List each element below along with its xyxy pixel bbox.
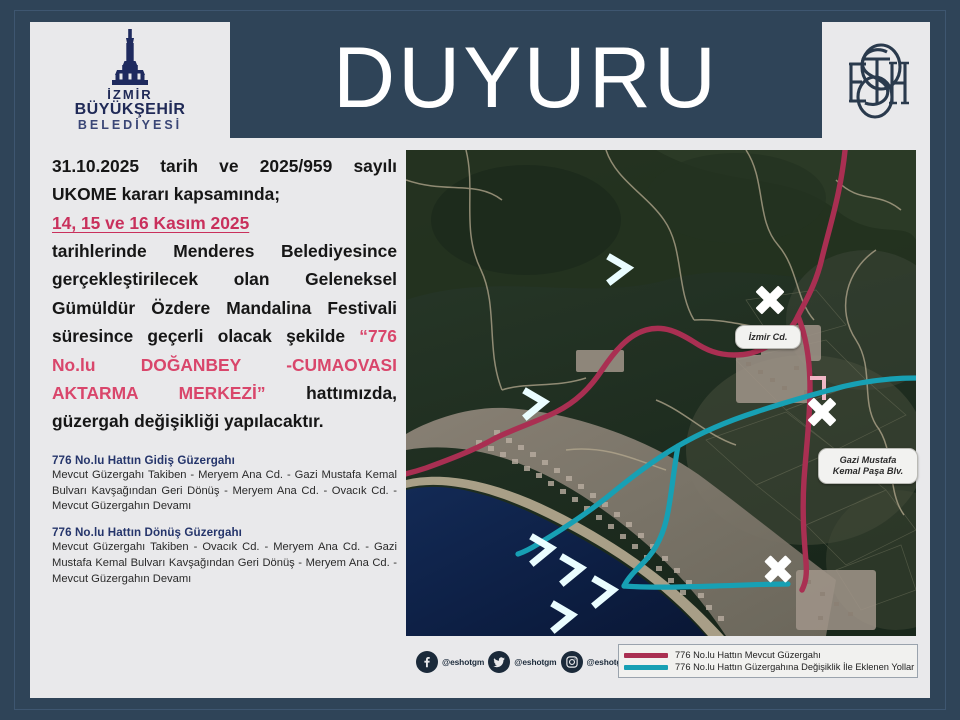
- announcement-intro: 31.10.2025 tarih ve 2025/959 sayılı UKOM…: [52, 156, 397, 204]
- social-twitter-handle: @eshotgm: [514, 657, 556, 667]
- route-detail-outbound: Mevcut Güzergahı Takiben - Meryem Ana Cd…: [52, 468, 397, 516]
- announcement-text-column: 31.10.2025 tarih ve 2025/959 sayılı UKOM…: [52, 152, 397, 632]
- route-detail-return: Mevcut Güzergahı Takiben - Ovacık Cd. - …: [52, 540, 397, 588]
- map-label-izmir-cd: İzmir Cd.: [735, 325, 801, 349]
- route-added-branch-east: [624, 584, 788, 587]
- social-facebook-handle: @eshotgm: [442, 657, 484, 667]
- announcement-paragraph: 31.10.2025 tarih ve 2025/959 sayılı UKOM…: [52, 152, 397, 436]
- announcement-body-1: tarihlerinde Menderes Belediyesince gerç…: [52, 241, 397, 346]
- legend-label-added: 776 No.lu Hattın Güzergahına Değişiklik …: [675, 662, 914, 672]
- legend-swatch-existing: [624, 653, 668, 658]
- map-legend: 776 No.lu Hattın Mevcut Güzergahı 776 No…: [618, 644, 918, 678]
- social-media-bar: @eshotgm @eshotgm @eshotgm: [416, 648, 621, 676]
- map-label-gazi-mustafa-kemal-pasa-blv: Gazi Mustafa Kemal Paşa Blv.: [818, 448, 918, 484]
- route-title-outbound: 776 No.lu Hattın Gidiş Güzergahı: [52, 454, 397, 467]
- route-map[interactable]: [406, 150, 916, 636]
- clock-tower-icon: [100, 28, 160, 86]
- legend-swatch-added: [624, 665, 668, 670]
- logo-line-belediyesi: BELEDİYESİ: [78, 118, 182, 132]
- facebook-icon[interactable]: [416, 651, 438, 673]
- legend-row-added: 776 No.lu Hattın Güzergahına Değişiklik …: [624, 662, 912, 672]
- logo-line-izmir: İZMİR: [107, 87, 152, 102]
- logo-line-buyuksehir: BÜYÜKŞEHİR: [75, 102, 186, 119]
- izmir-buyuksehir-belediyesi-logo: İZMİR BÜYÜKŞEHİR BELEDİYESİ: [30, 22, 230, 138]
- route-title-return: 776 No.lu Hattın Dönüş Güzergahı: [52, 526, 397, 539]
- announcement-dates: 14, 15 ve 16 Kasım 2025: [52, 213, 249, 233]
- legend-row-existing: 776 No.lu Hattın Mevcut Güzergahı: [624, 650, 912, 660]
- map-label-gmk-line1: Gazi Mustafa: [840, 455, 897, 465]
- announcement-poster: İZMİR BÜYÜKŞEHİR BELEDİYESİ DUYURU: [0, 0, 960, 720]
- eshot-monogram-icon: [837, 37, 915, 123]
- twitter-icon[interactable]: [488, 651, 510, 673]
- map-label-gmk-text: Gazi Mustafa Kemal Paşa Blv.: [833, 455, 903, 478]
- poster-title-container: DUYURU: [230, 22, 822, 138]
- eshot-monogram-logo: [822, 22, 930, 138]
- route-details: 776 No.lu Hattın Gidiş Güzergahı Mevcut …: [52, 454, 397, 588]
- social-twitter[interactable]: @eshotgm: [488, 651, 556, 673]
- instagram-icon[interactable]: [561, 651, 583, 673]
- map-label-gmk-line2: Kemal Paşa Blv.: [833, 466, 903, 476]
- legend-label-existing: 776 No.lu Hattın Mevcut Güzergahı: [675, 650, 821, 660]
- social-facebook[interactable]: @eshotgm: [416, 651, 484, 673]
- page-title: DUYURU: [333, 35, 719, 121]
- map-label-izmir-cd-text: İzmir Cd.: [749, 332, 788, 342]
